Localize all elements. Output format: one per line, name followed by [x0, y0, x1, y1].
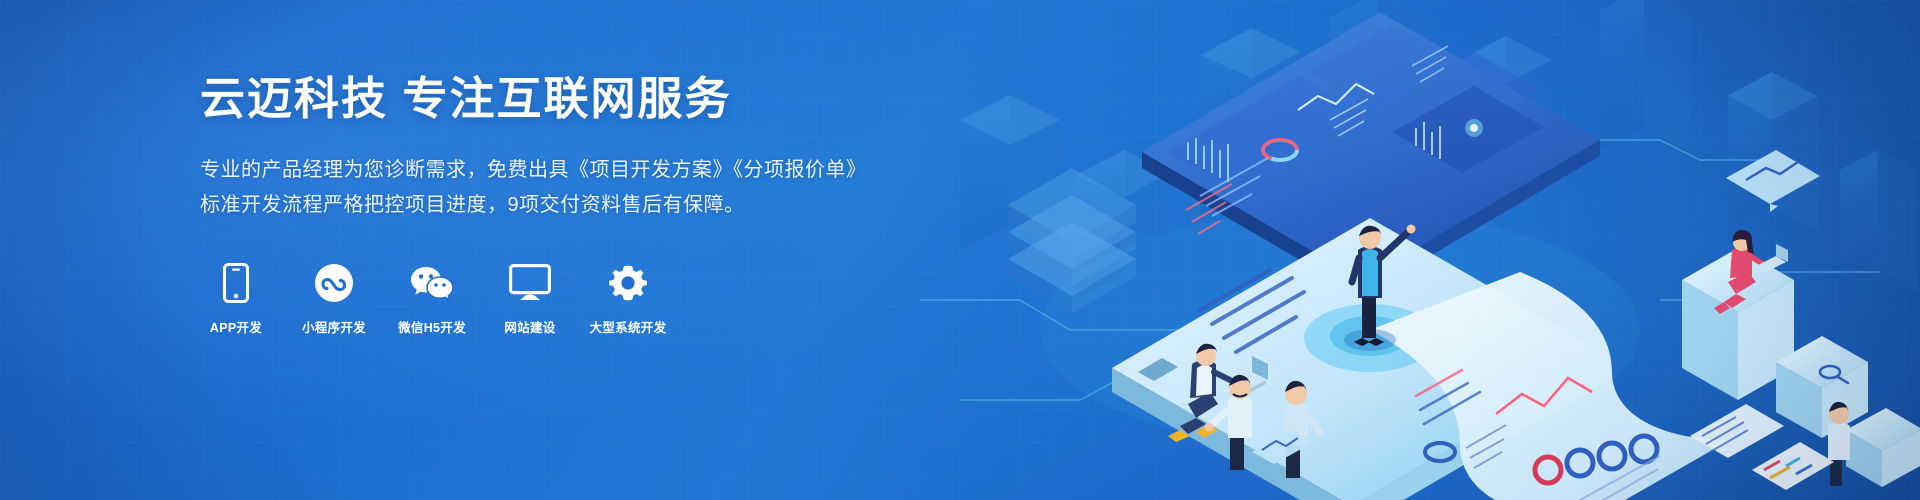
service-label: APP开发: [210, 317, 262, 336]
page-title: 云迈科技 专注互联网服务: [200, 72, 920, 126]
service-item-wechat-h5[interactable]: 微信H5开发: [396, 261, 468, 336]
gear-icon: [608, 261, 648, 305]
subtitle-line-1: 专业的产品经理为您诊断需求，免费出具《项目开发方案》《分项报价单》: [200, 153, 920, 188]
service-list: APP开发 小程序开发: [200, 261, 920, 336]
hero-banner: 云迈科技 专注互联网服务 专业的产品经理为您诊断需求，免费出具《项目开发方案》《…: [0, 0, 1920, 500]
service-label: 大型系统开发: [590, 317, 667, 336]
subtitle-line-2: 标准开发流程严格把控项目进度，9项交付资料售后有保障。: [200, 188, 920, 223]
service-item-miniprogram[interactable]: 小程序开发: [298, 261, 370, 336]
monitor-icon: [509, 261, 551, 305]
mobile-phone-icon: [223, 261, 249, 305]
service-item-app[interactable]: APP开发: [200, 261, 272, 336]
service-label: 小程序开发: [302, 317, 366, 336]
banner-content: 云迈科技 专注互联网服务 专业的产品经理为您诊断需求，免费出具《项目开发方案》《…: [200, 0, 920, 500]
banner-subtitle: 专业的产品经理为您诊断需求，免费出具《项目开发方案》《分项报价单》 标准开发流程…: [200, 153, 920, 223]
service-label: 微信H5开发: [398, 317, 466, 336]
service-item-website[interactable]: 网站建设: [494, 261, 566, 336]
mini-program-icon: [314, 261, 354, 305]
wechat-icon: [410, 261, 454, 305]
service-label: 网站建设: [504, 317, 555, 336]
service-item-large-system[interactable]: 大型系统开发: [592, 261, 664, 336]
